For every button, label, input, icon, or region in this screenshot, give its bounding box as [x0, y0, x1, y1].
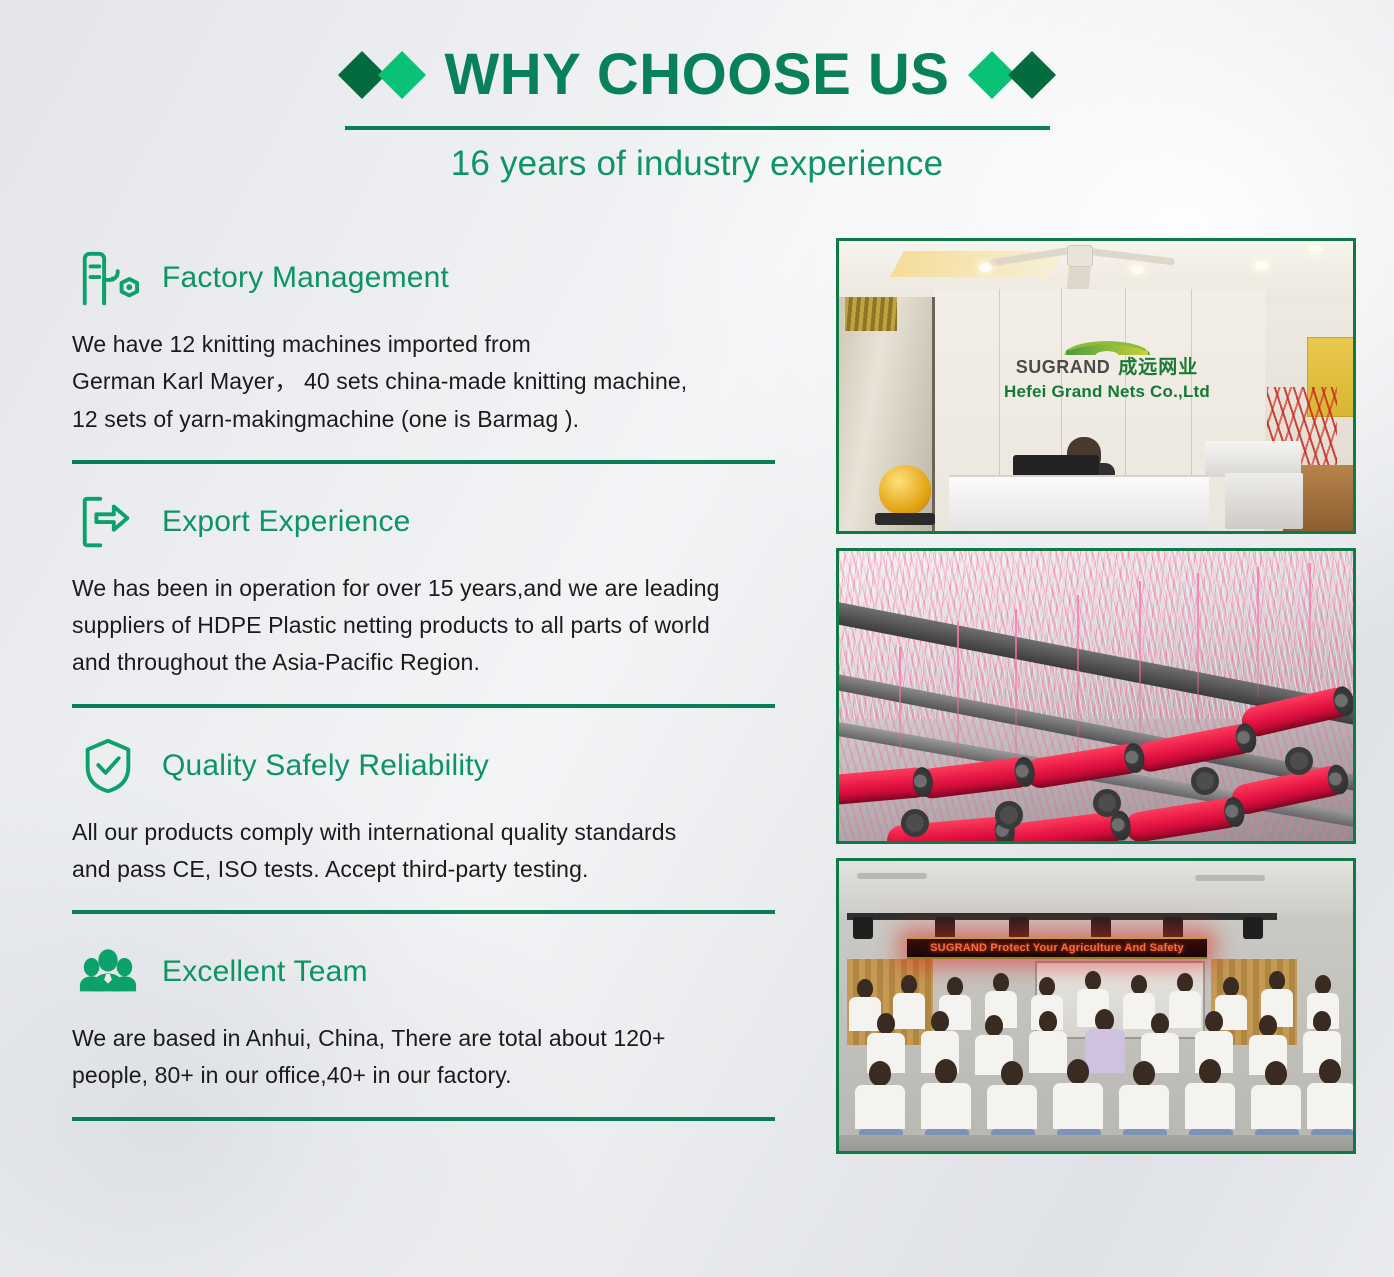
ceiling-spotlight — [979, 263, 992, 272]
person-head — [1039, 1011, 1057, 1032]
feature-body-line: We have 12 knitting machines imported fr… — [72, 326, 820, 363]
hanging-thread — [899, 647, 901, 757]
feature-body: We are based in Anhui, China, There are … — [72, 1020, 820, 1095]
person-body — [1029, 1031, 1067, 1073]
feature-excellent-team: Excellent Team We are based in Anhui, Ch… — [72, 932, 820, 1095]
title-row: WHY CHOOSE US — [0, 46, 1394, 104]
feature-title: Export Experience — [162, 505, 411, 539]
feature-header: Excellent Team — [72, 936, 820, 1008]
page-title: WHY CHOOSE US — [445, 46, 950, 104]
title-underline — [345, 126, 1050, 130]
lighting-truss — [847, 913, 1277, 920]
feature-header: Factory Management — [72, 242, 820, 314]
knitting-machine-photo — [836, 548, 1356, 844]
machine-wheel — [901, 809, 929, 837]
person-head — [947, 977, 963, 996]
feature-body-line: German Karl Mayer， 40 sets china-made kn… — [72, 363, 820, 400]
person-body — [921, 1083, 971, 1129]
ceiling-fan — [857, 873, 927, 879]
person-body — [1307, 1083, 1355, 1129]
person-body — [855, 1085, 905, 1129]
copier — [1225, 473, 1303, 529]
person-head — [1199, 1059, 1221, 1084]
stage-light — [1163, 917, 1183, 939]
photos-column: SUGRAND 成远网业 Hefei Grand Nets Co.,Ltd — [820, 238, 1376, 1168]
feature-factory-management: Factory Management We have 12 knitting m… — [72, 238, 820, 438]
feature-body-line: people, 80+ in our office,40+ in our fac… — [72, 1057, 820, 1094]
led-banner: SUGRAND Protect Your Agriculture And Saf… — [907, 937, 1207, 959]
hanging-thread — [957, 621, 959, 761]
page-subtitle: 16 years of industry experience — [0, 144, 1394, 184]
ceiling-spotlight — [1131, 265, 1144, 274]
section-divider — [72, 704, 775, 708]
feature-body-line: We has been in operation for over 15 yea… — [72, 570, 820, 607]
diamond-ornament-left — [345, 58, 419, 92]
hanging-thread — [1257, 567, 1259, 697]
person-head — [1085, 971, 1101, 990]
person-head — [1313, 1011, 1331, 1032]
machine-wheel — [1093, 789, 1121, 817]
feature-header: Export Experience — [72, 486, 820, 558]
feature-body-line: We are based in Anhui, China, There are … — [72, 1020, 820, 1057]
person-head — [877, 1013, 895, 1034]
person-body — [1185, 1083, 1235, 1129]
hanging-thread — [1015, 609, 1017, 759]
person-head — [1131, 975, 1147, 994]
stage-light — [853, 917, 873, 939]
person-head — [857, 979, 873, 998]
person-head — [1259, 1015, 1277, 1036]
brand-row: SUGRAND 成远网业 — [999, 352, 1215, 379]
features-column: Factory Management We have 12 knitting m… — [0, 238, 820, 1168]
wall-signage: SUGRAND 成远网业 Hefei Grand Nets Co.,Ltd — [999, 341, 1215, 402]
shield-check-icon — [72, 730, 144, 802]
person-head — [1133, 1061, 1155, 1086]
section-divider — [72, 460, 775, 464]
person-head — [993, 973, 1009, 992]
person-head — [1315, 975, 1331, 994]
stage-light — [1009, 917, 1029, 939]
feature-body-line: All our products comply with internation… — [72, 814, 820, 851]
brand-name-cn: 成远网业 — [1118, 352, 1198, 379]
page-header: WHY CHOOSE US 16 years of industry exper… — [0, 0, 1394, 184]
ceiling-fan — [1195, 875, 1265, 881]
hanging-thread — [1197, 573, 1199, 723]
person-head — [1223, 977, 1239, 996]
logo-arc-icon — [1064, 341, 1150, 355]
floor — [839, 1135, 1353, 1151]
person-body — [1251, 1085, 1301, 1129]
yarn-spool — [916, 756, 1035, 800]
person-body — [1119, 1085, 1169, 1129]
staff-crowd — [839, 965, 1353, 1151]
feature-title: Excellent Team — [162, 955, 368, 989]
diamond-light-icon — [377, 51, 425, 99]
stage-light — [1243, 917, 1263, 939]
section-divider — [72, 910, 775, 914]
factory-building-icon — [72, 242, 144, 314]
person-head — [1265, 1061, 1287, 1086]
person-head — [1067, 1059, 1089, 1084]
yarn-spool — [1123, 796, 1244, 844]
office-reception-photo: SUGRAND 成远网业 Hefei Grand Nets Co.,Ltd — [836, 238, 1356, 534]
team-group-photo: SUGRAND Protect Your Agriculture And Saf… — [836, 858, 1356, 1154]
feature-header: Quality Safely Reliability — [72, 730, 820, 802]
feature-body: All our products comply with internation… — [72, 814, 820, 889]
statue-base — [875, 513, 935, 525]
feature-body-line: suppliers of HDPE Plastic netting produc… — [72, 607, 820, 644]
person-head — [901, 975, 917, 994]
feature-title: Factory Management — [162, 261, 449, 295]
hanging-thread — [1077, 595, 1079, 755]
person-body — [1169, 991, 1201, 1028]
led-banner-text: SUGRAND Protect Your Agriculture And Saf… — [930, 942, 1184, 954]
person-head — [1177, 973, 1193, 992]
hanging-thread — [1309, 563, 1311, 683]
person-head — [1319, 1059, 1341, 1084]
person-body-manager — [1085, 1029, 1125, 1073]
feature-body-line: 12 sets of yarn-makingmachine (one is Ba… — [72, 401, 820, 438]
company-name: Hefei Grand Nets Co.,Ltd — [999, 382, 1215, 402]
person-head-manager — [1095, 1009, 1114, 1031]
person-body — [1053, 1083, 1103, 1129]
hanging-thread — [1139, 581, 1141, 749]
diamond-ornament-right — [975, 58, 1049, 92]
ceiling-spotlight — [1309, 245, 1322, 254]
content-area: Factory Management We have 12 knitting m… — [0, 238, 1394, 1168]
ceiling-fan-hub — [1067, 245, 1093, 267]
person-head — [869, 1061, 891, 1086]
feature-body-line: and throughout the Asia-Pacific Region. — [72, 644, 820, 681]
reception-counter — [949, 475, 1209, 531]
team-people-icon — [72, 936, 144, 1008]
stage-light — [935, 917, 955, 939]
printer — [1205, 441, 1301, 477]
feature-quality-reliability: Quality Safely Reliability All our produ… — [72, 726, 820, 889]
buddha-statue — [879, 465, 931, 515]
person-head — [1039, 977, 1055, 996]
person-head — [931, 1011, 949, 1032]
export-arrow-icon — [72, 486, 144, 558]
person-head — [985, 1015, 1003, 1036]
stage-light — [1091, 917, 1111, 939]
diamond-dark-icon — [1008, 51, 1056, 99]
person-head — [1269, 971, 1285, 990]
person-body — [893, 993, 925, 1029]
elevator-trim — [845, 297, 897, 331]
ceiling-spotlight — [1255, 261, 1268, 270]
machine-wheel — [995, 801, 1023, 829]
ceiling — [839, 861, 1353, 913]
person-body — [987, 1085, 1037, 1129]
brand-name-en: SUGRAND — [1016, 357, 1111, 378]
person-head — [1001, 1061, 1023, 1086]
yarn-spool — [836, 766, 932, 805]
person-head — [935, 1059, 957, 1084]
feature-body: We has been in operation for over 15 yea… — [72, 570, 820, 682]
feature-body: We have 12 knitting machines imported fr… — [72, 326, 820, 438]
person-head — [1205, 1011, 1223, 1032]
machine-wheel — [1285, 747, 1313, 775]
person-head — [1151, 1013, 1169, 1034]
machine-wheel — [1191, 767, 1219, 795]
feature-body-line: and pass CE, ISO tests. Accept third-par… — [72, 851, 820, 888]
feature-title: Quality Safely Reliability — [162, 749, 489, 783]
section-divider — [72, 1117, 775, 1121]
feature-export-experience: Export Experience We has been in operati… — [72, 482, 820, 682]
